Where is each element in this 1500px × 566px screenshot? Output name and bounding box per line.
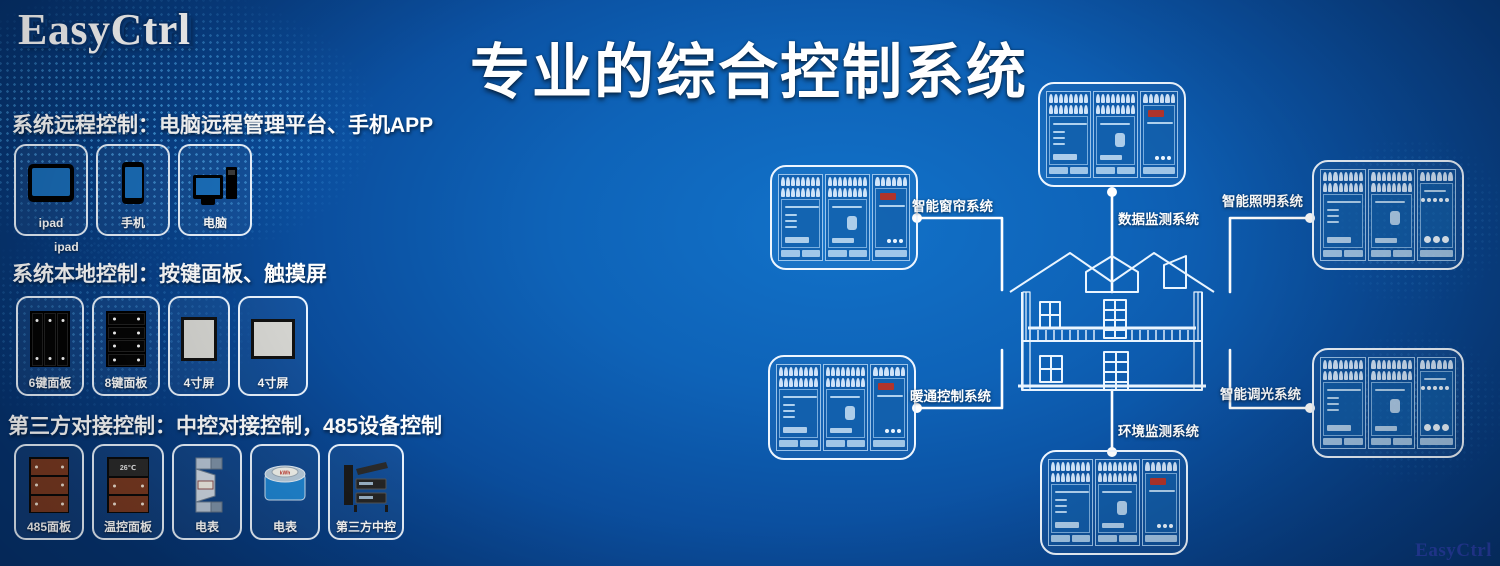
energy-meter-icon [179, 452, 235, 519]
section-title-local-control: 系统本地控制：按键面板、触摸屏 [12, 258, 327, 288]
node-label-environment: 环境监测系统 [1118, 420, 1199, 440]
device-card-energy-meter[interactable]: 电表 [172, 444, 242, 540]
section-title-third-party: 第三方对接控制：中控对接控制，485设备控制 [8, 410, 442, 440]
node-label-hvac: 暖通控制系统 [910, 385, 991, 405]
brand-logo: EasyCtrl [18, 4, 191, 55]
device-card-round-meter[interactable]: kWh 电表 [250, 444, 320, 540]
device-label: 8键面板 [105, 375, 148, 390]
device-label: ipad [39, 215, 64, 230]
smartphone-icon [103, 152, 163, 215]
device-label: 电表 [273, 519, 297, 534]
section-title-remote-control: 系统远程控制：电脑远程管理平台、手机APP [12, 109, 433, 139]
six-key-panel-icon [23, 304, 77, 375]
device-label: 第三方中控 [336, 519, 396, 534]
node-label-monitoring: 数据监测系统 [1118, 208, 1199, 228]
thermostat-display: 26℃ [109, 459, 148, 476]
device-card-phone[interactable]: 手机 [96, 144, 170, 236]
system-topology-diagram: 智能窗帘系统 数据监测系统 智能照明系统 暖通控制系统 环境监测系统 [740, 60, 1500, 566]
device-label: 4寸屏 [184, 375, 215, 390]
device-label: 6键面板 [29, 375, 72, 390]
device-node-dimming[interactable] [1312, 348, 1464, 458]
device-node-environment[interactable] [1040, 450, 1188, 555]
device-node-lighting[interactable] [1312, 160, 1464, 270]
device-row-third-party: 485面板 26℃ 温控面板 电表 [14, 444, 404, 540]
device-label: 4寸屏 [258, 375, 289, 390]
device-label: 温控面板 [104, 519, 152, 534]
device-label: 电表 [195, 519, 219, 534]
av-rack-icon [335, 452, 397, 519]
device-card-ipad[interactable]: ipad [14, 144, 88, 236]
desktop-computer-icon [185, 152, 245, 215]
svg-text:kWh: kWh [280, 471, 291, 477]
device-row-local: 6键面板 8键面板 4寸屏 4寸屏 [16, 296, 308, 396]
ipad-sub-caption: ipad [54, 240, 79, 254]
device-card-touchscreen-1[interactable]: 4寸屏 [168, 296, 230, 396]
device-card-pc[interactable]: 电脑 [178, 144, 252, 236]
touch-screen-icon [175, 304, 223, 375]
node-label-dimming: 智能调光系统 [1220, 383, 1301, 403]
round-meter-icon: kWh [257, 452, 313, 519]
eight-key-panel-icon [99, 304, 153, 375]
device-card-thermostat[interactable]: 26℃ 温控面板 [92, 444, 164, 540]
watermark: EasyCtrl [1415, 540, 1492, 562]
node-label-curtain: 智能窗帘系统 [912, 195, 993, 215]
node-label-lighting: 智能照明系统 [1222, 190, 1303, 210]
rs485-panel-icon [21, 452, 77, 519]
device-card-485-panel[interactable]: 485面板 [14, 444, 84, 540]
device-card-6key-panel[interactable]: 6键面板 [16, 296, 84, 396]
device-card-touchscreen-2[interactable]: 4寸屏 [238, 296, 308, 396]
device-label: 手机 [121, 215, 145, 230]
device-label: 电脑 [203, 215, 227, 230]
device-card-8key-panel[interactable]: 8键面板 [92, 296, 160, 396]
device-row-remote: ipad 手机 电脑 [14, 144, 252, 236]
device-node-hvac[interactable] [768, 355, 916, 460]
device-node-curtain[interactable] [770, 165, 918, 270]
thermostat-panel-icon: 26℃ [99, 452, 157, 519]
device-node-monitoring[interactable] [1038, 82, 1186, 187]
touch-screen-wide-icon [245, 304, 301, 375]
tablet-icon [21, 152, 81, 215]
device-label: 485面板 [27, 519, 71, 534]
device-card-av-central[interactable]: 第三方中控 [328, 444, 404, 540]
poster-canvas: EasyCtrl 专业的综合控制系统 系统远程控制：电脑远程管理平台、手机APP… [0, 0, 1500, 566]
